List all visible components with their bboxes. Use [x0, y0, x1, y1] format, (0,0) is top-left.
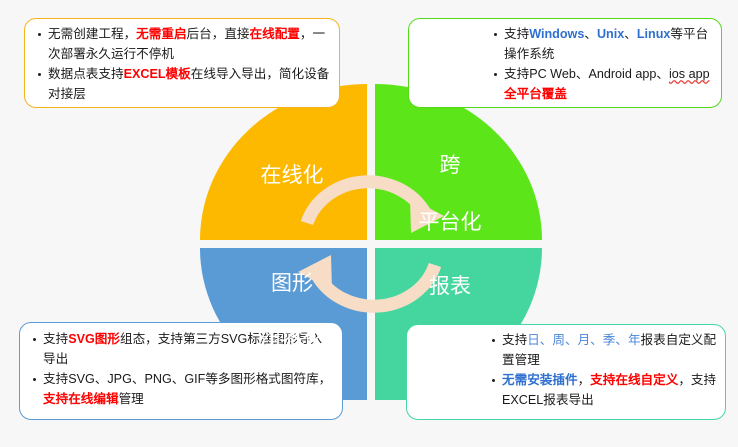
- bullet-item: 支持Windows、Unix、Linux等平台操作系统: [493, 25, 713, 64]
- callout-panel-cross-platform: 支持Windows、Unix、Linux等平台操作系统支持PC Web、Andr…: [408, 18, 722, 108]
- circular-rotation-arrows: [298, 182, 444, 306]
- text-run: 、: [584, 27, 597, 41]
- text-run: Unix: [597, 27, 624, 41]
- text-run: Windows: [529, 27, 584, 41]
- bullet-item: 无需安装插件，支持在线自定义，支持EXCEL报表导出: [491, 371, 717, 410]
- text-run: 支持: [504, 27, 529, 41]
- text-run: 后台，直接: [187, 27, 250, 41]
- text-run: ，: [578, 373, 591, 387]
- bullet-list-cross-platform: 支持Windows、Unix、Linux等平台操作系统支持PC Web、Andr…: [409, 19, 721, 104]
- text-run: 无需重启: [136, 27, 186, 41]
- text-run: 支持SVG、JPG、PNG、GIF等多图形格式图符库，: [43, 372, 331, 386]
- bullet-item: 支持PC Web、Android app、ios app全平台覆盖: [493, 65, 713, 104]
- bullet-item: 无需创建工程，无需重启后台，直接在线配置，一次部署永久运行不停机: [37, 25, 331, 64]
- text-run: 无需安装插件: [502, 373, 578, 387]
- bullet-item: 数据点表支持EXCEL模板在线导入导出，简化设备对接层: [37, 65, 331, 104]
- text-run: 、: [624, 27, 637, 41]
- text-run: 全平台覆盖: [504, 87, 567, 101]
- text-run: 无需创建工程，: [48, 27, 136, 41]
- callout-panel-online: 无需创建工程，无需重启后台，直接在线配置，一次部署永久运行不停机数据点表支持EX…: [24, 18, 340, 108]
- text-run: 支持PC Web、Android app、: [504, 67, 669, 81]
- text-run: Linux: [637, 27, 671, 41]
- bullet-item: 支持SVG、JPG、PNG、GIF等多图形格式图符库，支持在线编辑管理: [32, 370, 334, 409]
- text-run: 日、周、月、季、年: [527, 333, 640, 347]
- text-run: 支持在线编辑: [43, 392, 119, 406]
- diagram-canvas: 在线化 跨 平台化 图形 组态化 报表 自定义化 无需创建工程，无需重启后台，直…: [0, 0, 738, 447]
- callout-panel-graphics: 支持SVG图形组态，支持第三方SVG标准图形导入导出支持SVG、JPG、PNG、…: [19, 322, 343, 420]
- text-run: 支持: [43, 332, 68, 346]
- text-run: 管理: [119, 392, 144, 406]
- bullet-item: 支持SVG图形组态，支持第三方SVG标准图形导入导出: [32, 330, 334, 369]
- bullet-list-graphics: 支持SVG图形组态，支持第三方SVG标准图形导入导出支持SVG、JPG、PNG、…: [20, 323, 342, 409]
- bullet-list-reports: 支持日、周、月、季、年报表自定义配置管理无需安装插件，支持在线自定义，支持EXC…: [407, 325, 725, 410]
- text-run: 在线配置: [250, 27, 300, 41]
- text-run: 数据点表支持: [48, 67, 124, 81]
- text-run: SVG图形: [68, 332, 120, 346]
- text-run: EXCEL模板: [124, 67, 191, 81]
- text-run: ios app: [669, 67, 710, 81]
- bullet-list-online: 无需创建工程，无需重启后台，直接在线配置，一次部署永久运行不停机数据点表支持EX…: [25, 19, 339, 104]
- bullet-item: 支持日、周、月、季、年报表自定义配置管理: [491, 331, 717, 370]
- callout-panel-reports: 支持日、周、月、季、年报表自定义配置管理无需安装插件，支持在线自定义，支持EXC…: [406, 324, 726, 420]
- text-run: 支持在线自定义: [590, 373, 678, 387]
- text-run: 支持: [502, 333, 527, 347]
